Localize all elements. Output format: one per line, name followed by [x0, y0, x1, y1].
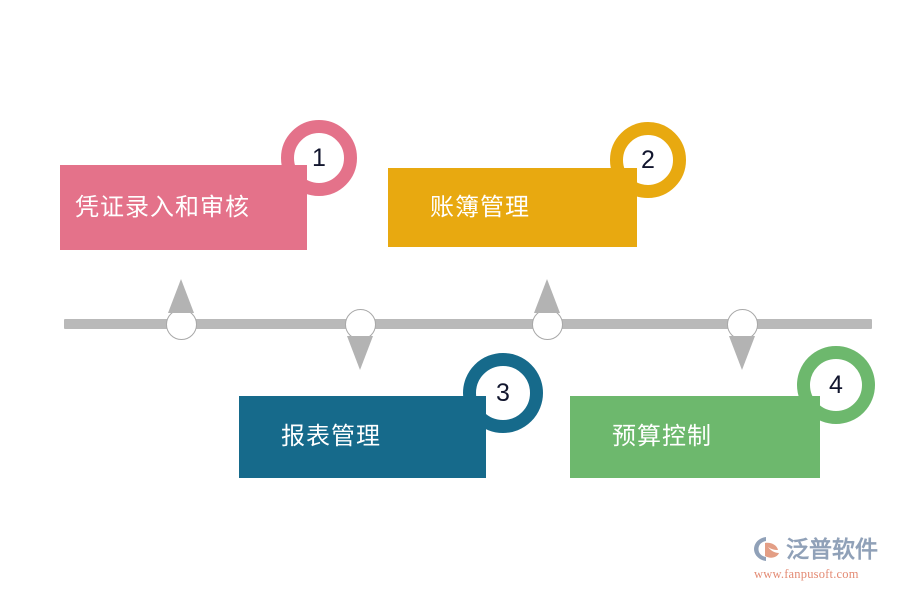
step-box-4[interactable]: 预算控制: [570, 396, 820, 478]
fanpu-logo-icon: [752, 534, 782, 564]
connector-arrow-down-2: [347, 336, 373, 370]
diagram-canvas: 1凭证录入和审核2账簿管理3报表管理4预算控制 泛普软件 www.fanpuso…: [0, 0, 900, 600]
watermark-url: www.fanpusoft.com: [754, 568, 859, 581]
connector-arrow-down-4: [729, 336, 755, 370]
timeline-node-1: [166, 309, 197, 340]
step-number: 3: [496, 381, 510, 406]
step-label: 凭证录入和审核: [75, 196, 250, 220]
connector-arrow-up-1: [168, 279, 194, 313]
timeline-node-3: [532, 309, 563, 340]
step-box-2[interactable]: 账簿管理: [388, 168, 637, 247]
step-number: 4: [829, 373, 843, 398]
watermark-logo: 泛普软件 www.fanpusoft.com: [752, 534, 894, 590]
step-label: 预算控制: [612, 425, 712, 449]
watermark-brand-text: 泛普软件: [786, 538, 878, 561]
step-label: 账簿管理: [430, 196, 530, 220]
step-box-3[interactable]: 报表管理: [239, 396, 486, 478]
connector-arrow-up-3: [534, 279, 560, 313]
step-number: 1: [312, 146, 326, 171]
watermark-brand-row: 泛普软件: [752, 534, 878, 564]
step-box-1[interactable]: 凭证录入和审核: [60, 165, 307, 250]
step-number: 2: [641, 148, 655, 173]
step-label: 报表管理: [281, 425, 381, 449]
